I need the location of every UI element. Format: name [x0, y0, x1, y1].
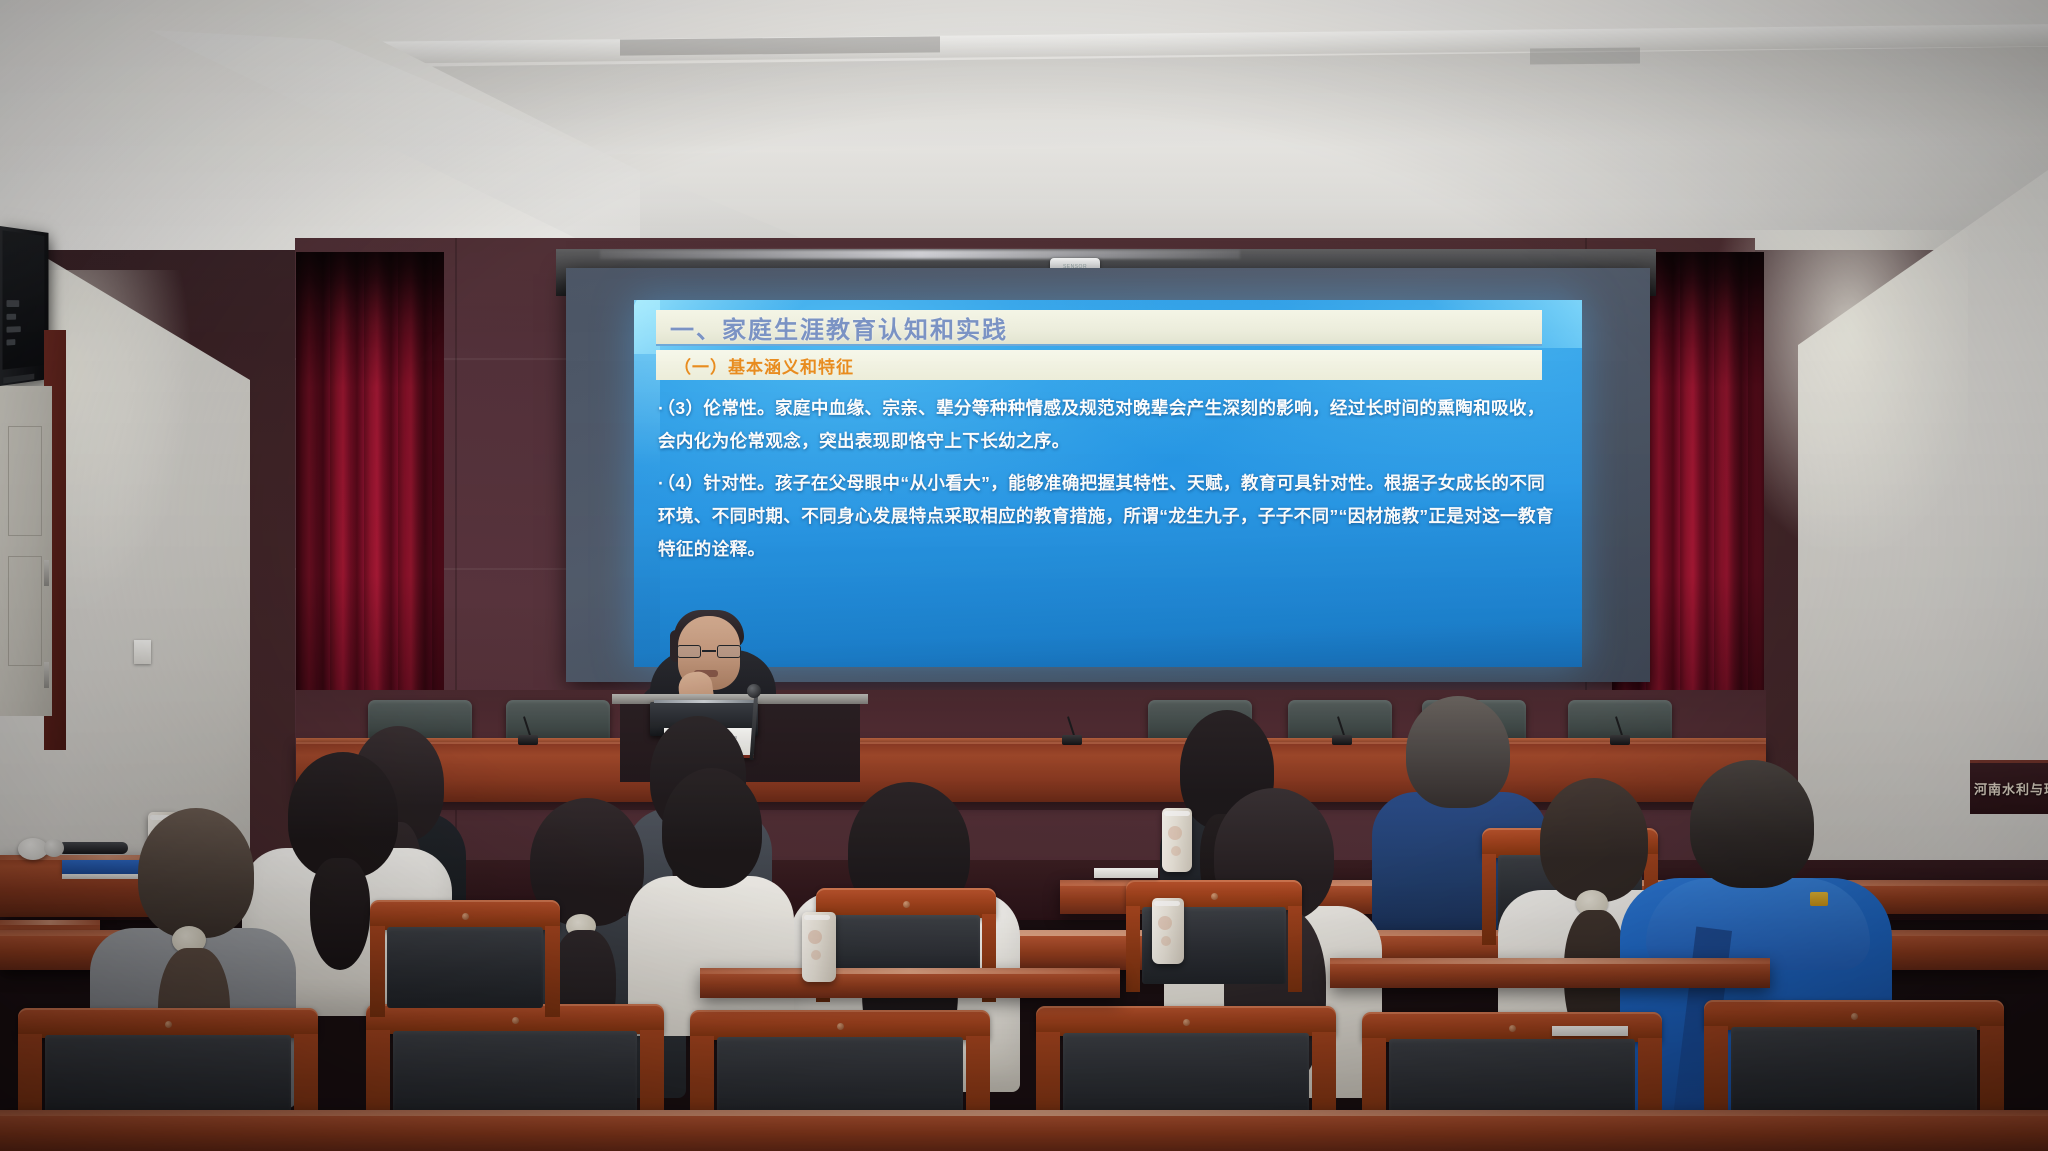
slide-paragraph-3-text: （3）伦常性。家庭中血缘、宗亲、辈分等种种情感及规范对晚辈会产生深刻的影响，经过…: [658, 398, 1545, 451]
person-hair: [1540, 778, 1648, 902]
tv-port-icon: [7, 314, 17, 320]
lecture-hall-photo: SENSOR 一、家庭生涯教育认知和实践 （一）基本涵义和特征 ·（3）伦常性。…: [0, 0, 2048, 1151]
ceiling-vent: [620, 36, 940, 55]
person-hair: [1406, 696, 1510, 808]
paper-stack[interactable]: [1094, 868, 1158, 878]
slide-subheading-band: （一）基本涵义和特征: [656, 350, 1542, 380]
slide-subheading-text: （一）基本涵义和特征: [674, 353, 854, 378]
slide-bullet-icon: ·: [658, 473, 664, 493]
stage-microphone: [516, 716, 542, 746]
speaker-glasses-icon: [676, 645, 742, 658]
door-panel: [8, 426, 42, 536]
slide-heading-band: 一、家庭生涯教育认知和实践: [656, 310, 1542, 346]
jacket-logo-icon: [1810, 892, 1828, 906]
door-hinge: [44, 560, 49, 586]
ceiling-vent-secondary: [1530, 48, 1640, 65]
blue-notebook[interactable]: [62, 860, 148, 874]
jacket-hood: [1646, 878, 1870, 970]
venue-plaque-text: 河南水利与环境: [1970, 763, 2048, 814]
stage-microphone: [1330, 716, 1356, 746]
water-tumbler[interactable]: [1162, 808, 1192, 872]
stage-microphone: [1608, 716, 1634, 746]
person-hair: [662, 768, 762, 888]
person-ponytail: [310, 858, 370, 970]
slide-paragraph-4-text: （4）针对性。孩子在父母眼中“从小看大”，能够准确把握其特性、天赋，教育可具针对…: [658, 473, 1554, 559]
slide-body: ·（3）伦常性。家庭中血缘、宗亲、辈分等种种情感及规范对晚辈会产生深刻的影响，经…: [658, 392, 1558, 575]
slide-paragraph-4: ·（4）针对性。孩子在父母眼中“从小看大”，能够准确把握其特性、天赋，教育可具针…: [658, 467, 1558, 566]
podium-microphone-head: [747, 684, 761, 698]
water-tumbler[interactable]: [802, 912, 836, 982]
tv-port-icon: [7, 300, 20, 307]
slide-bullet-icon: ·: [658, 398, 664, 418]
audience-chair[interactable]: [370, 900, 560, 1026]
door-panel: [8, 556, 42, 666]
stage-desk: [296, 742, 1766, 802]
projected-slide: 一、家庭生涯教育认知和实践 （一）基本涵义和特征 ·（3）伦常性。家庭中血缘、宗…: [634, 300, 1582, 667]
laptop-screen-edge: [654, 700, 754, 703]
water-tumbler[interactable]: [1152, 898, 1184, 964]
slide-paragraph-3: ·（3）伦常性。家庭中血缘、宗亲、辈分等种种情感及规范对晚辈会产生深刻的影响，经…: [658, 392, 1558, 458]
person-hair: [1690, 760, 1814, 888]
venue-plaque: 河南水利与环境: [1970, 760, 2048, 814]
slide-heading-text: 一、家庭生涯教育认知和实践: [670, 310, 1008, 345]
paper-stack[interactable]: [1552, 1026, 1628, 1036]
light-switch[interactable]: [134, 640, 151, 664]
screen-housing-highlight: [600, 250, 1240, 259]
tv-port-icon: [7, 339, 16, 345]
stage-microphone: [1060, 716, 1086, 746]
handheld-microphone[interactable]: [58, 842, 128, 854]
desk-row-second: [1330, 958, 1770, 988]
desk-row-front: [0, 1110, 2048, 1151]
tv-port-icon: [7, 326, 21, 332]
door-hinge: [44, 662, 49, 688]
desk-row-second: [700, 968, 1120, 998]
person-hair: [138, 808, 254, 938]
wall-mounted-tv[interactable]: [0, 226, 48, 386]
